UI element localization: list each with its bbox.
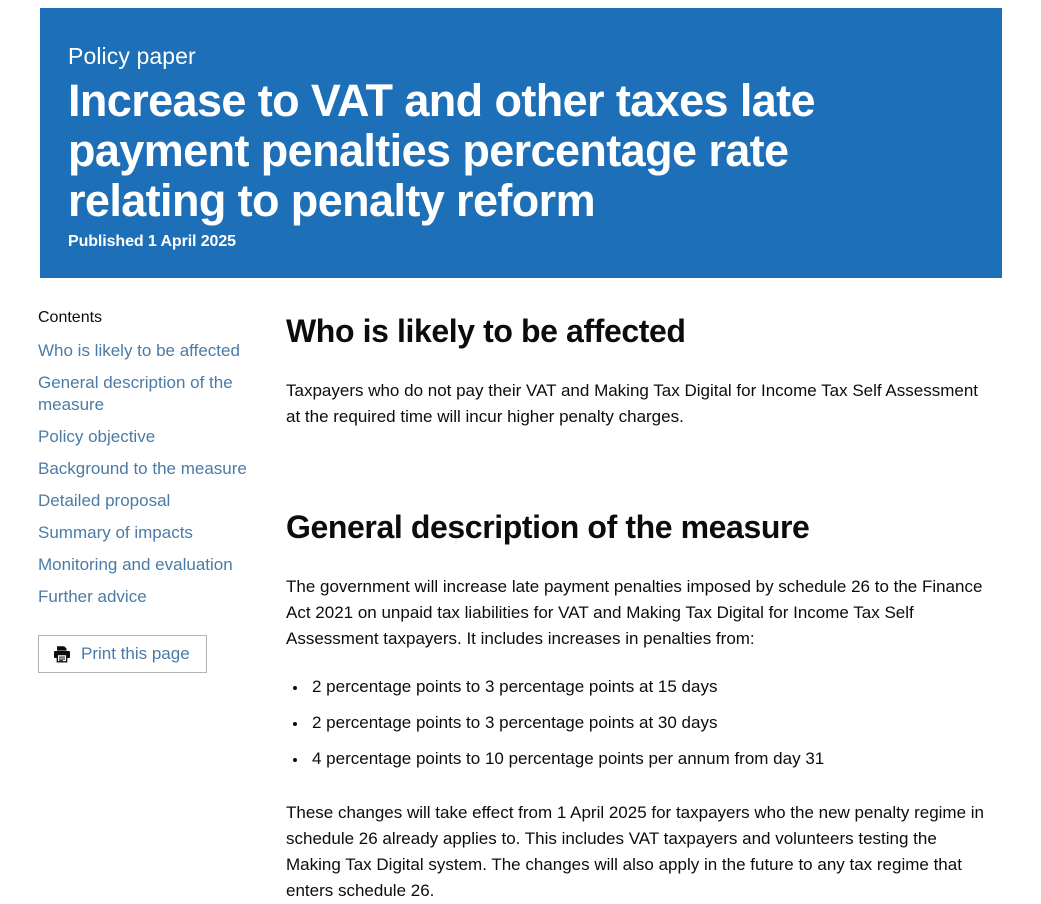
list-item: General description of the measure (38, 372, 268, 416)
page-title: Increase to VAT and other taxes late pay… (68, 76, 868, 226)
section-two-paragraph-two: These changes will take effect from 1 Ap… (286, 800, 992, 904)
list-item: Who is likely to be affected (38, 340, 268, 362)
sidebar-item-policy-objective[interactable]: Policy objective (38, 426, 155, 448)
sidebar-item-further-advice[interactable]: Further advice (38, 586, 147, 608)
list-item: 2 percentage points to 3 percentage poin… (308, 710, 1001, 736)
published-date: Published 1 April 2025 (68, 232, 972, 252)
print-this-page-label: Print this page (81, 644, 190, 664)
list-item: Detailed proposal (38, 490, 268, 512)
sidebar-item-monitoring-and-evaluation[interactable]: Monitoring and evaluation (38, 554, 233, 576)
list-item: Monitoring and evaluation (38, 554, 268, 576)
list-item: 4 percentage points to 10 percentage poi… (308, 746, 1001, 772)
list-item: Further advice (38, 586, 268, 608)
list-item: Background to the measure (38, 458, 268, 480)
list-item: Policy objective (38, 426, 268, 448)
page-banner: Policy paper Increase to VAT and other t… (40, 8, 1002, 278)
sidebar-item-who-is-likely-to-be-affected[interactable]: Who is likely to be affected (38, 340, 240, 362)
list-item: 2 percentage points to 3 percentage poin… (308, 674, 1001, 700)
penalty-increase-list: 2 percentage points to 3 percentage poin… (286, 674, 1001, 772)
section-heading-general-description-of-the-measure: General description of the measure (286, 508, 1001, 546)
print-this-page-button[interactable]: Print this page (38, 635, 207, 673)
sidebar-item-general-description-of-the-measure[interactable]: General description of the measure (38, 372, 268, 416)
contents-sidebar: Contents Who is likely to be affected Ge… (38, 300, 268, 673)
contents-heading: Contents (38, 308, 268, 328)
printer-icon (52, 644, 72, 664)
sidebar-item-summary-of-impacts[interactable]: Summary of impacts (38, 522, 193, 544)
sidebar-item-detailed-proposal[interactable]: Detailed proposal (38, 490, 170, 512)
section-one-paragraph: Taxpayers who do not pay their VAT and M… (286, 378, 992, 430)
sidebar-item-background-to-the-measure[interactable]: Background to the measure (38, 458, 247, 480)
contents-list: Who is likely to be affected General des… (38, 340, 268, 608)
section-two-paragraph-one: The government will increase late paymen… (286, 574, 992, 652)
main-content: Who is likely to be affected Taxpayers w… (286, 300, 1001, 904)
section-heading-who-is-likely-to-be-affected: Who is likely to be affected (286, 312, 1001, 350)
list-item: Summary of impacts (38, 522, 268, 544)
document-type-label: Policy paper (68, 42, 972, 70)
